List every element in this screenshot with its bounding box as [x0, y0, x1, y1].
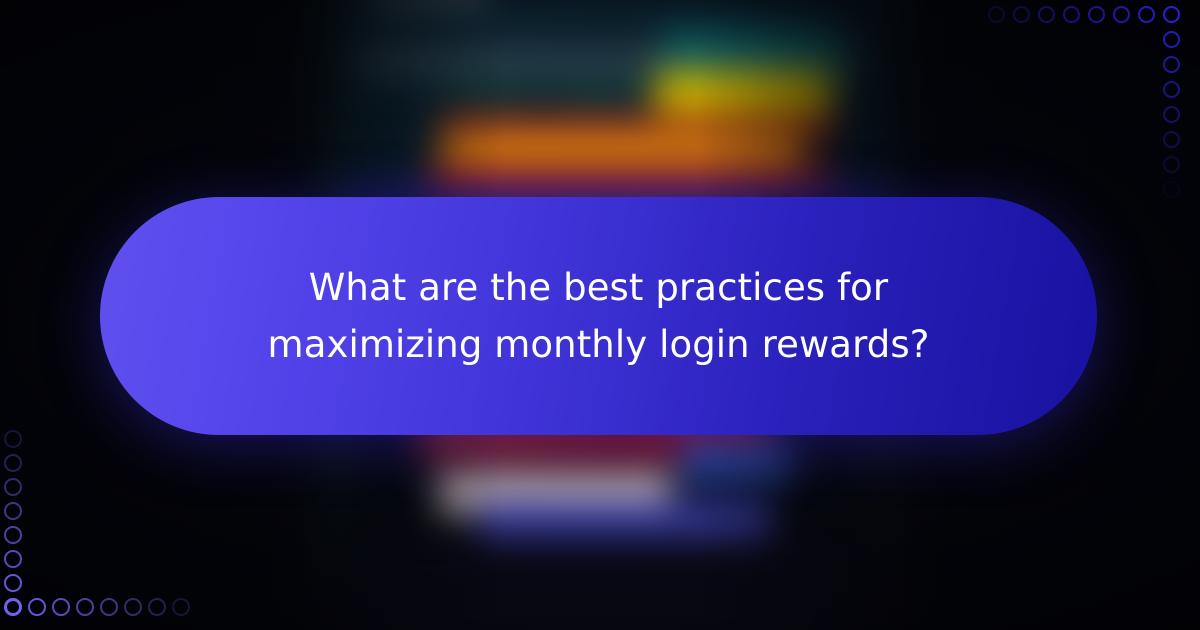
question-card: What are the best practices for maximizi… — [100, 197, 1097, 435]
question-text: What are the best practices for maximizi… — [219, 259, 979, 373]
screenshot-canvas: What are the best practices for maximizi… — [0, 0, 1200, 630]
